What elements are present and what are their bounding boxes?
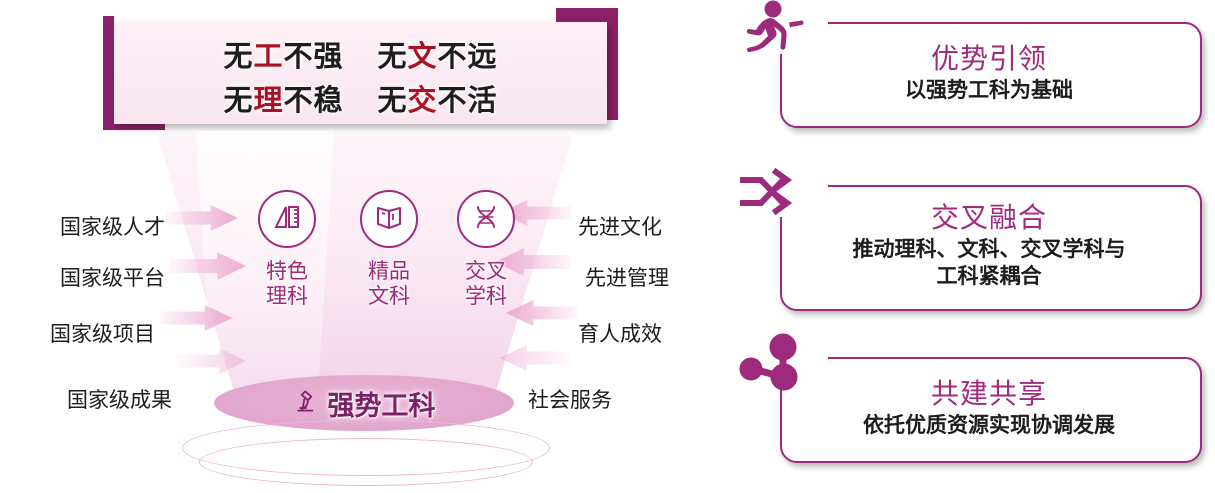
slogan-char: 无 xyxy=(223,41,253,73)
banner-bracket-left xyxy=(103,16,114,130)
slogan-char: 不强 xyxy=(283,41,343,73)
discipline-icon-circle xyxy=(258,190,316,248)
banner-bracket-right-head xyxy=(556,8,618,22)
running-person-icon xyxy=(737,0,811,60)
output-label-1: 先进文化 xyxy=(578,211,662,241)
card-subtitle: 依托优质资源实现协调发展 xyxy=(863,412,1115,439)
card-subtitle: 推动理科、文科、交叉学科与 工科紧耦合 xyxy=(853,236,1126,290)
discipline-item-science[interactable]: 特色 理科 xyxy=(228,190,346,309)
output-label-2: 先进管理 xyxy=(585,262,669,292)
output-label-4: 社会服务 xyxy=(528,384,612,414)
card-content: 优势引领 以强势工科为基础 xyxy=(780,22,1198,124)
banner-card: 无工不强无文不远 无理不稳无交不活 xyxy=(114,22,607,124)
dna-helix-icon xyxy=(470,201,502,238)
slogan-line-1: 无工不强无文不远 xyxy=(114,33,607,75)
output-arrow-4 xyxy=(500,345,570,371)
slogan-char: 不稳 xyxy=(283,85,343,117)
input-label-3: 国家级项目 xyxy=(10,318,155,348)
slogan-char: 不远 xyxy=(438,41,498,73)
base-ring-inner xyxy=(199,438,533,486)
discipline-icon-circle xyxy=(360,190,418,248)
discipline-icon-circle xyxy=(457,190,515,248)
card-title: 优势引领 xyxy=(931,43,1047,75)
slogan-highlight-char: 理 xyxy=(253,85,283,117)
card-content: 交叉融合 推动理科、文科、交叉学科与 工科紧耦合 xyxy=(780,185,1198,307)
strategy-cards-panel: 优势引领 以强势工科为基础 交叉融合 推动理科、文科、交叉学科与 工科紧耦合 xyxy=(735,0,1215,493)
share-nodes-icon xyxy=(737,333,811,395)
shuffle-arrows-icon xyxy=(737,161,811,223)
slogan-line-2: 无理不稳无交不活 xyxy=(114,77,607,119)
strategy-card-integration[interactable]: 交叉融合 推动理科、文科、交叉学科与 工科紧耦合 xyxy=(780,185,1198,307)
left-diagram-panel: 无工不强无文不远 无理不稳无交不活 国家级人才 国家级平台 国家级项目 国家级成… xyxy=(0,0,735,493)
output-label-3: 育人成效 xyxy=(578,318,662,348)
slogan-highlight-char: 交 xyxy=(408,85,438,117)
foundation-label: 强势工科 xyxy=(328,384,436,423)
strategy-card-sharing[interactable]: 共建共享 依托优质资源实现协调发展 xyxy=(780,357,1198,459)
discipline-item-crossover[interactable]: 交叉 学科 xyxy=(427,190,545,309)
ruler-triangle-icon xyxy=(271,201,303,238)
card-content: 共建共享 依托优质资源实现协调发展 xyxy=(780,357,1198,459)
infographic-root: 无工不强无文不远 无理不稳无交不活 国家级人才 国家级平台 国家级项目 国家级成… xyxy=(0,0,1215,493)
discipline-label: 交叉 学科 xyxy=(427,259,545,309)
slogan-banner: 无工不强无文不远 无理不稳无交不活 xyxy=(103,8,618,130)
strategy-card-advantage[interactable]: 优势引领 以强势工科为基础 xyxy=(780,22,1198,124)
banner-bracket-right xyxy=(607,8,618,120)
slogan-char: 无 xyxy=(378,85,408,117)
input-label-1: 国家级人才 xyxy=(10,211,165,241)
open-book-icon xyxy=(373,201,405,238)
card-title: 共建共享 xyxy=(931,378,1047,410)
input-label-4: 国家级成果 xyxy=(10,384,172,414)
slogan-highlight-char: 工 xyxy=(253,41,283,73)
slogan-char: 不活 xyxy=(438,85,498,117)
slogan-char: 无 xyxy=(223,85,253,117)
slogan-highlight-char: 文 xyxy=(408,41,438,73)
discipline-label: 特色 理科 xyxy=(228,259,346,309)
card-subtitle: 以强势工科为基础 xyxy=(905,77,1073,104)
microscope-icon xyxy=(293,387,321,420)
card-title: 交叉融合 xyxy=(931,202,1047,234)
slogan-char: 无 xyxy=(378,41,408,73)
input-label-2: 国家级平台 xyxy=(10,262,165,292)
